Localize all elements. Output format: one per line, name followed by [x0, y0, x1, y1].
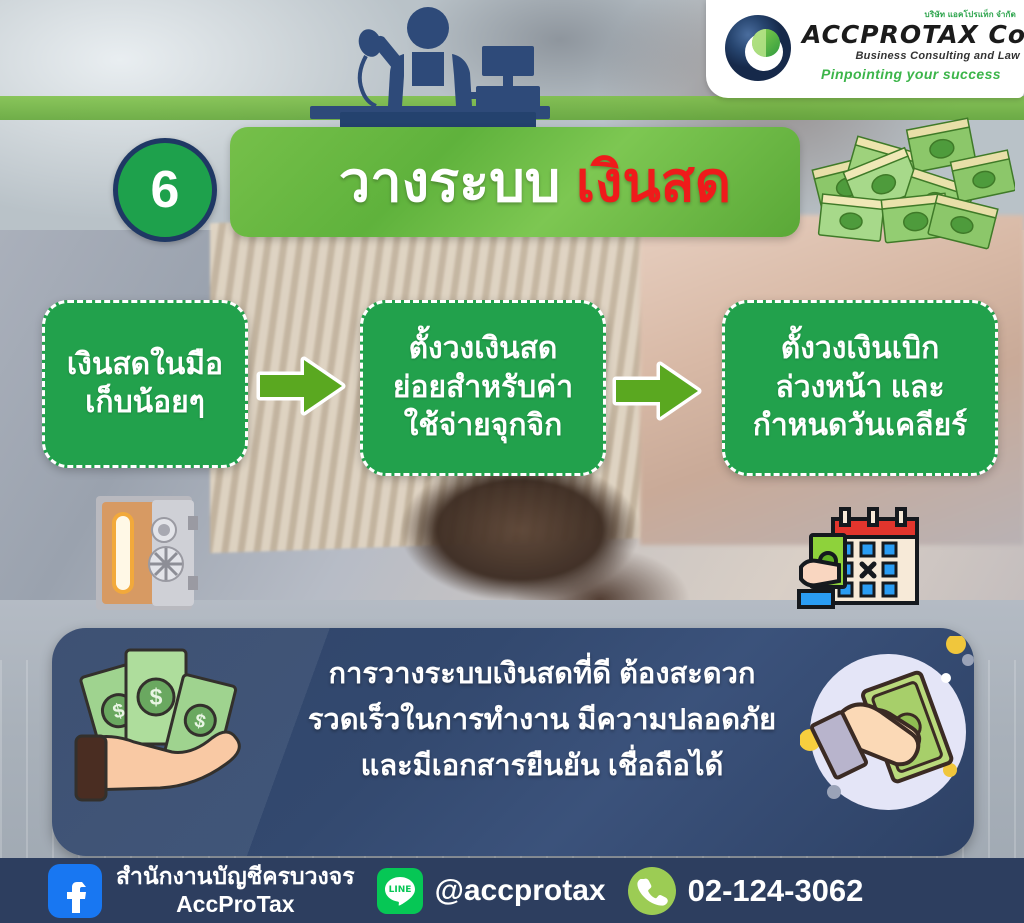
title-primary: วางระบบ: [339, 150, 560, 213]
step-3-line-3: กำหนดวันเคลียร์: [753, 407, 968, 445]
step-2-line-3: ใช้จ่ายจุกจิก: [404, 407, 563, 445]
step-1-line-2: เก็บน้อยๆ: [85, 384, 205, 422]
summary-line-3: และมีเอกสารยืนยัน เชื่อถือได้: [242, 744, 842, 790]
title-highlight: เงินสด: [576, 150, 731, 213]
hand-holding-dollar-bills-icon: $ $ $: [72, 644, 262, 829]
line-icon[interactable]: LINE: [377, 868, 423, 914]
summary-line-1: การวางระบบเงินสดที่ดี ต้องสะดวก: [242, 652, 842, 698]
summary-text: การวางระบบเงินสดที่ดี ต้องสะดวก รวดเร็วใ…: [242, 652, 842, 789]
step-box-1: เงินสดในมือ เก็บน้อยๆ: [42, 300, 248, 468]
step-number-badge: 6: [113, 138, 217, 242]
arrow-right-icon-2: [612, 360, 704, 422]
logo-company-name: ACCPROTAX Co., Ltd.: [802, 20, 1020, 49]
step-3-line-1: ตั้งวงเงินเบิก: [781, 330, 940, 368]
calendar-payday-icon: [795, 505, 923, 615]
phone-number[interactable]: 02-124-3062: [688, 873, 864, 909]
hand-paying-cash-icon: [800, 636, 974, 836]
company-logo-card: บริษัท แอคโปรแท็ก จำกัด ACCPROTAX Co., L…: [706, 0, 1024, 98]
svg-text:$: $: [150, 684, 163, 710]
safe-vault-icon: [92, 490, 200, 616]
svg-text:LINE: LINE: [388, 885, 411, 895]
step-box-2: ตั้งวงเงินสด ย่อยสำหรับค่า ใช้จ่ายจุกจิก: [360, 300, 606, 476]
arrow-right-icon: [256, 355, 348, 417]
cashier-checkout-icon: [300, 2, 560, 122]
logo-subtitle: Business Consulting and Law: [802, 50, 1020, 62]
phone-icon[interactable]: [628, 867, 676, 915]
step-1-line-1: เงินสดในมือ: [67, 346, 223, 384]
logo-tagline: Pinpointing your success: [802, 66, 1020, 82]
step-2-line-1: ตั้งวงเงินสด: [409, 330, 558, 368]
step-box-3: ตั้งวงเงินเบิก ล่วงหน้า และ กำหนดวันเคลี…: [722, 300, 998, 476]
infographic-poster: บริษัท แอคโปรแท็ก จำกัด ACCPROTAX Co., L…: [0, 0, 1024, 923]
facebook-icon[interactable]: [48, 864, 102, 918]
title-banner: วางระบบ เงินสด: [230, 127, 800, 237]
facebook-line-1: สำนักงานบัญชีครบวงจร: [116, 863, 355, 890]
step-2-line-2: ย่อยสำหรับค่า: [393, 369, 573, 407]
line-handle[interactable]: @accprotax: [435, 874, 606, 908]
page-title: วางระบบ เงินสด: [339, 154, 731, 210]
facebook-line-2: AccProTax: [116, 891, 355, 918]
circle-leaf-logo-icon: [720, 10, 802, 90]
summary-panel: $ $ $ การวางระบบเงินสดที่ดี ต้องสะดวก รว…: [52, 628, 974, 856]
facebook-label[interactable]: สำนักงานบัญชีครบวงจร AccProTax: [116, 863, 355, 917]
step-3-line-2: ล่วงหน้า และ: [775, 369, 944, 407]
summary-line-2: รวดเร็วในการทำงาน มีความปลอดภัย: [242, 698, 842, 744]
cash-bundles-icon: [800, 115, 1015, 255]
footer-contact-bar: สำนักงานบัญชีครบวงจร AccProTax LINE @acc…: [0, 858, 1024, 923]
